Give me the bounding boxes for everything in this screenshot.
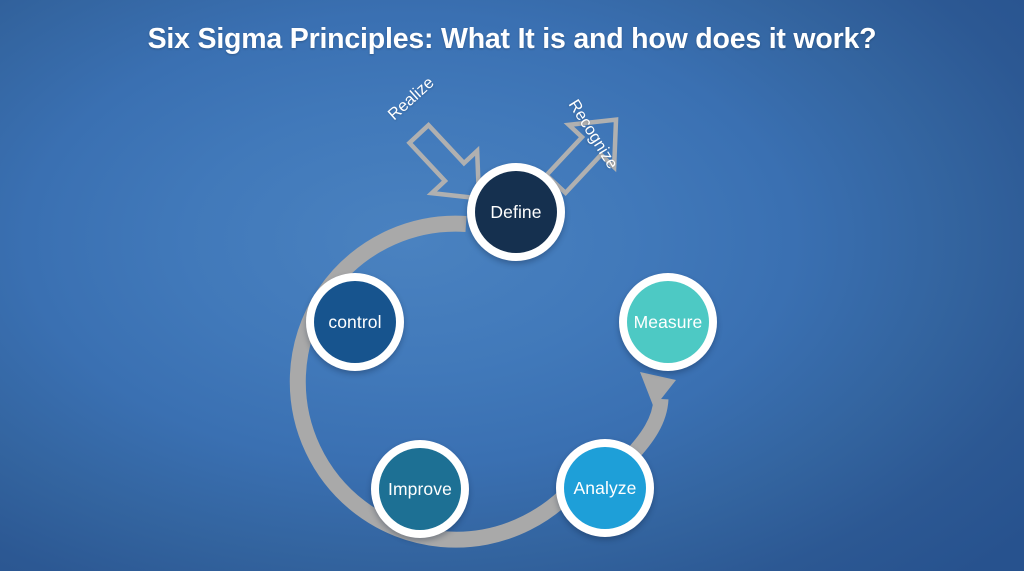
cycle-node-label: Analyze — [574, 478, 637, 499]
cycle-node-define[interactable]: Define — [467, 163, 565, 261]
control-disc: control — [314, 281, 396, 363]
slide-canvas: Six Sigma Principles: What It is and how… — [0, 0, 1024, 571]
cycle-node-label: Define — [490, 202, 541, 223]
cycle-node-improve[interactable]: Improve — [371, 440, 469, 538]
cycle-node-label: Measure — [634, 312, 703, 333]
cycle-node-label: Improve — [388, 479, 452, 500]
cycle-node-analyze[interactable]: Analyze — [556, 439, 654, 537]
measure-disc: Measure — [627, 281, 709, 363]
analyze-to-measure-arrow-icon — [628, 372, 676, 459]
cycle-node-measure[interactable]: Measure — [619, 273, 717, 371]
cycle-node-label: control — [328, 312, 381, 333]
define-disc: Define — [475, 171, 557, 253]
improve-disc: Improve — [379, 448, 461, 530]
analyze-disc: Analyze — [564, 447, 646, 529]
cycle-diagram-graphics — [0, 0, 1024, 571]
cycle-node-control[interactable]: control — [306, 273, 404, 371]
